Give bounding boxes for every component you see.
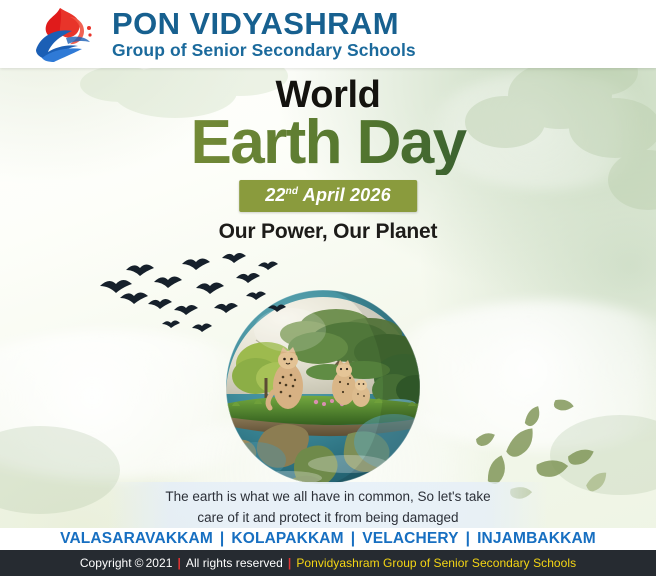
title-earth-day: Earth Day <box>0 110 656 175</box>
quote-line-2: care of it and protect it from being dam… <box>114 508 542 529</box>
school-credit: Ponvidyashram Group of Senior Secondary … <box>296 556 576 570</box>
copyright-separator: | <box>177 556 180 570</box>
date-ordinal: nd <box>286 186 299 197</box>
copyright-bar: Copyright © 2021 | All rights reserved |… <box>0 550 656 576</box>
event-date-badge: 22nd April 2026 <box>239 180 417 212</box>
earth-day-quote: The earth is what we all have in common,… <box>108 482 548 534</box>
copyright-symbol-icon: © <box>135 556 144 570</box>
location-separator: | <box>466 530 471 548</box>
earth-day-poster: PON VIDYASHRAM Group of Senior Secondary… <box>0 0 656 576</box>
location-kolapakkam[interactable]: KOLAPAKKAM <box>231 530 343 548</box>
ponvidyashram-logo-icon[interactable] <box>26 4 104 64</box>
branch-locations-bar: VALASARAVAKKAM | KOLAPAKKAM | VELACHERY … <box>0 528 656 550</box>
date-day: 22 <box>265 185 285 205</box>
event-slogan: Our Power, Our Planet <box>0 220 656 244</box>
floating-leaves-icon <box>466 300 656 500</box>
rights-reserved-text: All rights reserved <box>186 556 283 570</box>
copyright-separator: | <box>288 556 291 570</box>
location-velachery[interactable]: VELACHERY <box>362 530 458 548</box>
copyright-label: Copyright <box>80 556 132 570</box>
school-tagline: Group of Senior Secondary Schools <box>112 41 416 61</box>
location-valasaravakkam[interactable]: VALASARAVAKKAM <box>60 530 213 548</box>
location-separator: | <box>351 530 356 548</box>
location-injambakkam[interactable]: INJAMBAKKAM <box>477 530 596 548</box>
location-separator: | <box>220 530 225 548</box>
site-header: PON VIDYASHRAM Group of Senior Secondary… <box>0 0 656 68</box>
copyright-year: 2021 <box>146 556 173 570</box>
school-name: PON VIDYASHRAM <box>112 8 416 40</box>
date-rest: April 2026 <box>298 185 391 205</box>
quote-line-1: The earth is what we all have in common,… <box>114 487 542 508</box>
flying-birds-flock-icon <box>96 252 296 344</box>
